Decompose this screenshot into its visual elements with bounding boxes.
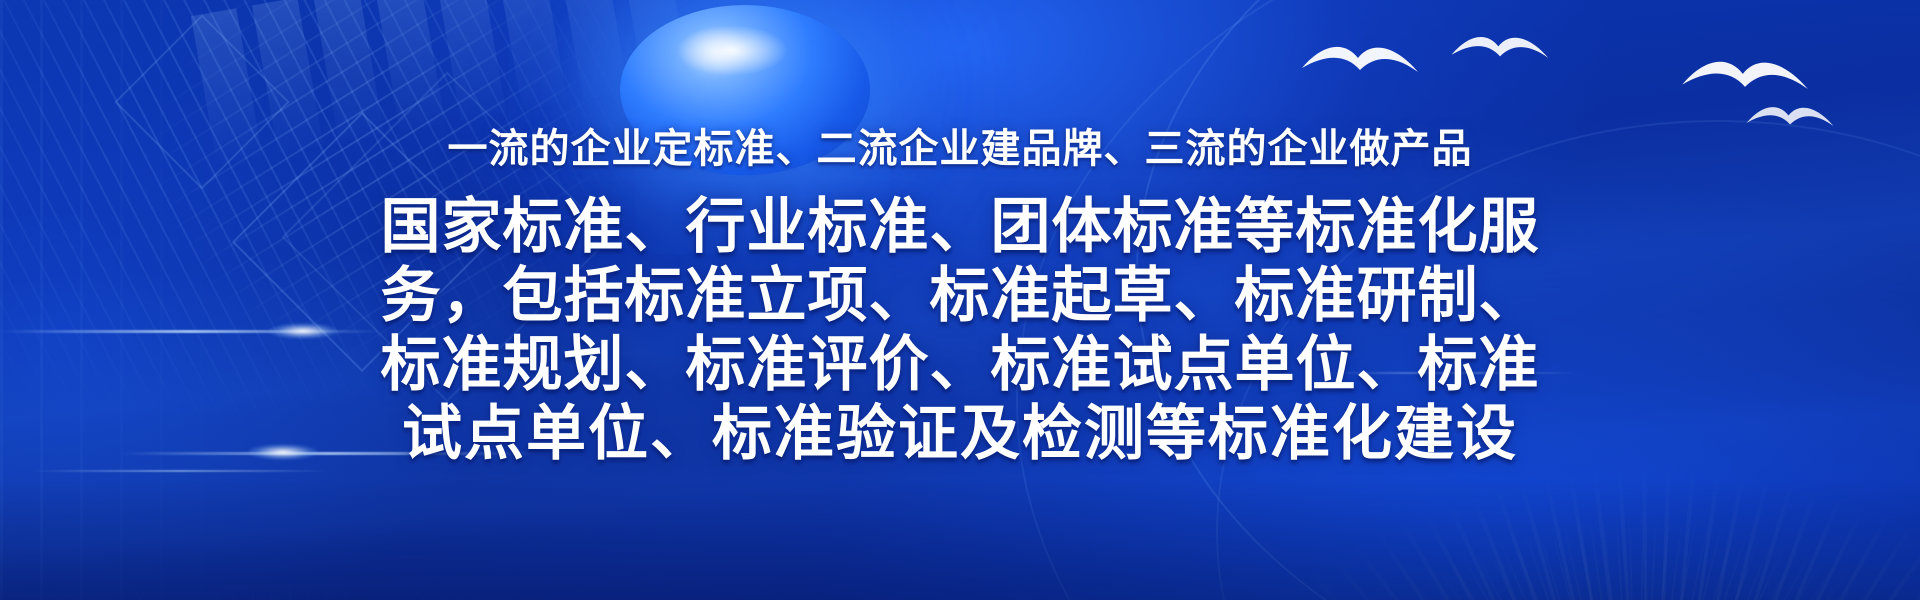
headline-line-2: 务，包括标准立项、标准起草、标准研制、 bbox=[325, 261, 1595, 330]
headline-line-1: 国家标准、行业标准、团体标准等标准化服 bbox=[325, 192, 1595, 261]
headline-line-4: 试点单位、标准验证及检测等标准化建设 bbox=[325, 399, 1595, 468]
banner-text-block: 一流的企业定标准、二流企业建品牌、三流的企业做产品 国家标准、行业标准、团体标准… bbox=[0, 0, 1920, 600]
banner-subtitle: 一流的企业定标准、二流企业建品牌、三流的企业做产品 bbox=[0, 125, 1920, 173]
headline-line-3: 标准规划、标准评价、标准试点单位、标准 bbox=[325, 330, 1595, 399]
banner-headline: 国家标准、行业标准、团体标准等标准化服 务，包括标准立项、标准起草、标准研制、 … bbox=[325, 192, 1595, 468]
promo-banner: 一流的企业定标准、二流企业建品牌、三流的企业做产品 国家标准、行业标准、团体标准… bbox=[0, 0, 1920, 600]
